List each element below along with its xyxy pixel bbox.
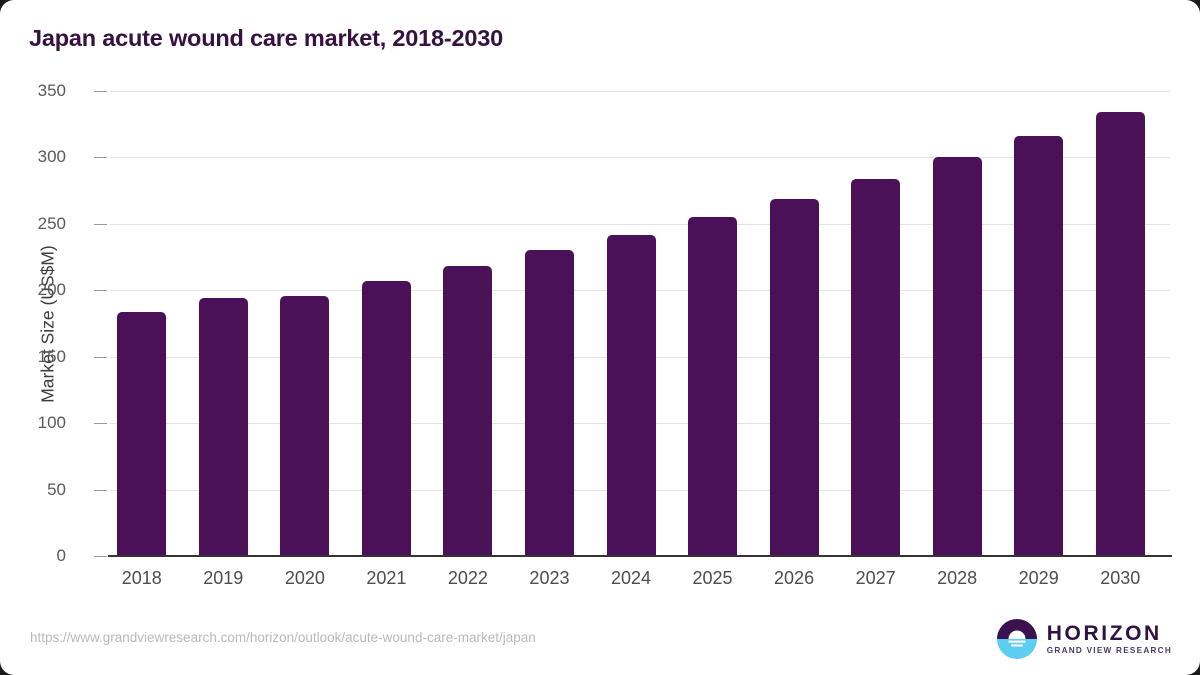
source-url[interactable]: https://www.grandviewresearch.com/horizo… [30, 630, 536, 645]
gridline [110, 157, 1170, 158]
x-tick-label: 2025 [693, 568, 733, 589]
bar[interactable] [688, 217, 737, 556]
bar[interactable] [525, 250, 574, 556]
y-tick-label: 350 [6, 81, 66, 101]
y-tick-label: 250 [6, 214, 66, 234]
x-tick-label: 2023 [529, 568, 569, 589]
gridline [110, 91, 1170, 92]
y-tick-mark [94, 357, 107, 358]
brand-name: HORIZON [1047, 623, 1172, 644]
x-tick-label: 2020 [285, 568, 325, 589]
bar[interactable] [443, 266, 492, 556]
y-tick-label: 150 [6, 347, 66, 367]
x-tick-label: 2027 [856, 568, 896, 589]
y-tick-label: 300 [6, 147, 66, 167]
bar[interactable] [199, 298, 248, 556]
x-tick-label: 2024 [611, 568, 651, 589]
bar[interactable] [117, 312, 166, 556]
y-axis-title: Market Size (US$M) [38, 245, 59, 403]
plot-area: Market Size (US$M) 050100150200250300350 [110, 91, 1170, 556]
brand-tagline: GRAND VIEW RESEARCH [1047, 647, 1172, 655]
x-tick-label: 2028 [937, 568, 977, 589]
y-tick-mark [94, 423, 107, 424]
horizon-logo: HORIZON GRAND VIEW RESEARCH [997, 618, 1172, 660]
y-tick-mark [94, 290, 107, 291]
x-tick-label: 2026 [774, 568, 814, 589]
x-tick-label: 2030 [1100, 568, 1140, 589]
y-tick-label: 50 [6, 480, 66, 500]
x-tick-label: 2018 [122, 568, 162, 589]
gridline [110, 224, 1170, 225]
y-tick-label: 0 [6, 546, 66, 566]
x-tick-label: 2022 [448, 568, 488, 589]
chart-card: Japan acute wound care market, 2018-2030… [0, 0, 1200, 675]
y-tick-label: 200 [6, 280, 66, 300]
brand-text: HORIZON GRAND VIEW RESEARCH [1047, 623, 1172, 655]
x-tick-label: 2019 [203, 568, 243, 589]
bar[interactable] [362, 281, 411, 556]
bar[interactable] [607, 235, 656, 557]
y-tick-mark [94, 91, 107, 92]
horizon-sun-icon [997, 619, 1037, 659]
y-tick-mark [94, 490, 107, 491]
bar[interactable] [933, 157, 982, 556]
bar[interactable] [770, 199, 819, 556]
y-tick-mark [94, 224, 107, 225]
y-tick-label: 100 [6, 413, 66, 433]
bar[interactable] [851, 179, 900, 556]
x-tick-label: 2029 [1019, 568, 1059, 589]
y-tick-mark [94, 157, 107, 158]
bar[interactable] [1014, 136, 1063, 556]
bar[interactable] [280, 296, 329, 556]
chart-title: Japan acute wound care market, 2018-2030 [29, 25, 503, 52]
y-tick-mark [94, 556, 107, 557]
x-tick-label: 2021 [366, 568, 406, 589]
bar[interactable] [1096, 112, 1145, 556]
x-axis-line [108, 555, 1172, 557]
